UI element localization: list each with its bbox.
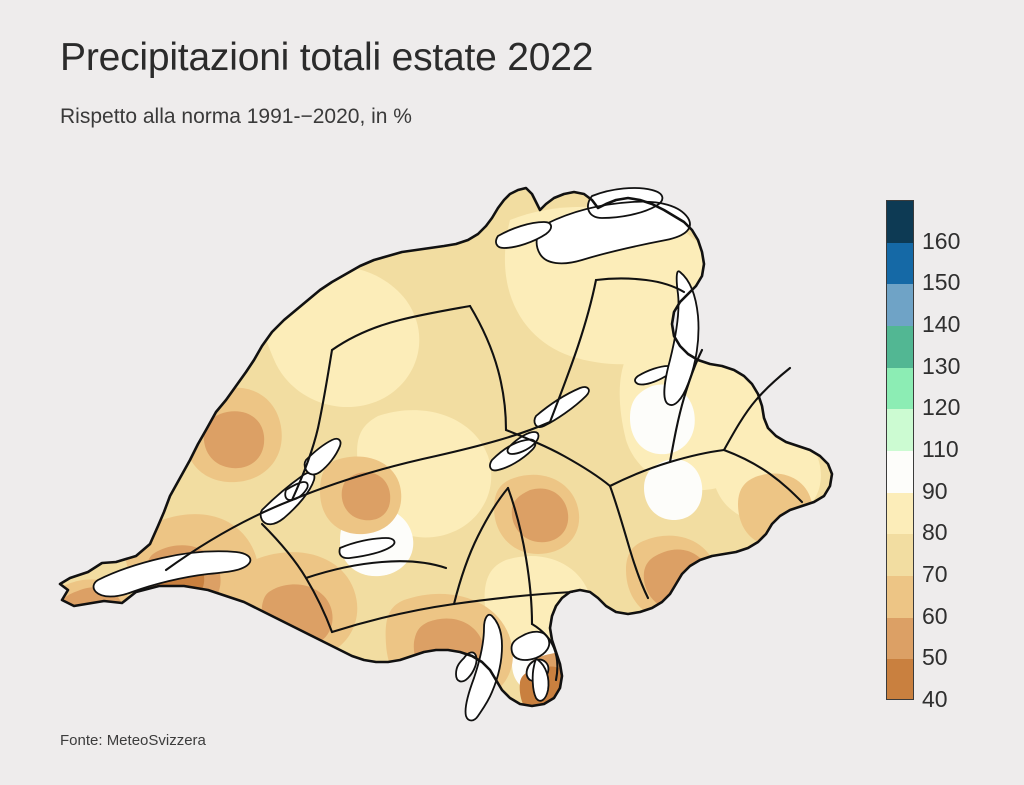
source-attribution: Fonte: MeteoSvizzera xyxy=(60,732,206,749)
legend-band-110 xyxy=(887,409,913,451)
legend-band-90 xyxy=(887,451,913,493)
legend-band-70 xyxy=(887,534,913,576)
precipitation-anomaly-figure: Precipitazioni totali estate 2022 Rispet… xyxy=(0,0,1024,785)
page-title: Precipitazioni totali estate 2022 xyxy=(60,36,593,80)
page-subtitle: Rispetto alla norma 1991-−2020, in % xyxy=(60,105,412,129)
legend-tick-80: 80 xyxy=(922,521,948,544)
legend-tick-160: 160 xyxy=(922,230,960,253)
legend-tick-110: 110 xyxy=(922,438,959,461)
map-canvas xyxy=(40,160,860,730)
legend-band-40 xyxy=(887,659,913,700)
legend-tick-60: 60 xyxy=(922,605,948,628)
legend-tick-120: 120 xyxy=(922,396,960,419)
legend-colorbar xyxy=(886,200,914,700)
legend-tick-140: 140 xyxy=(922,313,960,336)
legend-band-50 xyxy=(887,618,913,660)
legend-tick-90: 90 xyxy=(922,480,948,503)
legend-band-120 xyxy=(887,368,913,410)
legend-band-160 xyxy=(887,201,913,243)
legend-tick-labels: 160150140130120110908070605040 xyxy=(922,200,1012,700)
legend-tick-70: 70 xyxy=(922,563,948,586)
switzerland-map xyxy=(40,160,860,730)
legend-tick-40: 40 xyxy=(922,688,948,711)
legend-band-150 xyxy=(887,243,913,285)
legend-band-80 xyxy=(887,493,913,535)
legend-band-130 xyxy=(887,326,913,368)
legend-tick-130: 130 xyxy=(922,355,960,378)
legend-tick-50: 50 xyxy=(922,646,948,669)
legend-band-140 xyxy=(887,284,913,326)
legend-tick-150: 150 xyxy=(922,271,960,294)
legend-band-60 xyxy=(887,576,913,618)
